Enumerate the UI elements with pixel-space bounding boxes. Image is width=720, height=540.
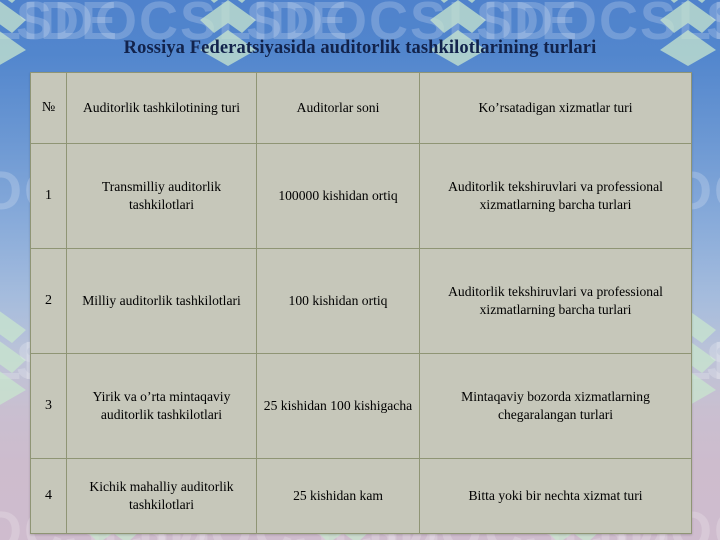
cell-type: Transmilliy auditorlik tashkilotlari bbox=[67, 144, 257, 249]
header-cell-number: № bbox=[31, 73, 67, 144]
cell-number: 3 bbox=[31, 354, 67, 459]
table-row: 3 Yirik va o’rta mintaqaviy auditorlik t… bbox=[31, 354, 692, 459]
header-cell-services: Ko’rsatadigan xizmatlar turi bbox=[420, 73, 692, 144]
watermark-text: SDOCSLIDE bbox=[706, 330, 720, 392]
cell-services: Auditorlik tekshiruvlari va professional… bbox=[420, 144, 692, 249]
green-chevron-logo-icon bbox=[0, 310, 30, 406]
cell-services: Mintaqaviy bozorda xizmatlarning chegara… bbox=[420, 354, 692, 459]
header-cell-type: Auditorlik tashkilotining turi bbox=[67, 73, 257, 144]
cell-type: Yirik va o’rta mintaqaviy auditorlik tas… bbox=[67, 354, 257, 459]
cell-count: 25 kishidan 100 kishigacha bbox=[257, 354, 420, 459]
cell-services: Auditorlik tekshiruvlari va professional… bbox=[420, 249, 692, 354]
cell-number: 1 bbox=[31, 144, 67, 249]
cell-type: Kichik mahalliy auditorlik tashkilotlari bbox=[67, 459, 257, 534]
audit-organizations-table: № Auditorlik tashkilotining turi Auditor… bbox=[30, 72, 692, 534]
cell-count: 25 kishidan kam bbox=[257, 459, 420, 534]
slide-canvas: SDOCSLIDESDOCSLIDESDOCSLIDESDOCSLIDESDOC… bbox=[0, 0, 720, 540]
cell-type: Milliy auditorlik tashkilotlari bbox=[67, 249, 257, 354]
cell-count: 100000 kishidan ortiq bbox=[257, 144, 420, 249]
cell-services: Bitta yoki bir nechta xizmat turi bbox=[420, 459, 692, 534]
table-row: 1 Transmilliy auditorlik tashkilotlari 1… bbox=[31, 144, 692, 249]
header-cell-count: Auditorlar soni bbox=[257, 73, 420, 144]
cell-number: 4 bbox=[31, 459, 67, 534]
cell-number: 2 bbox=[31, 249, 67, 354]
table-container: № Auditorlik tashkilotining turi Auditor… bbox=[30, 72, 691, 534]
table-row: 4 Kichik mahalliy auditorlik tashkilotla… bbox=[31, 459, 692, 534]
page-title: Rossiya Federatsiyasida auditorlik tashk… bbox=[0, 38, 720, 59]
table-header-row: № Auditorlik tashkilotining turi Auditor… bbox=[31, 73, 692, 144]
cell-count: 100 kishidan ortiq bbox=[257, 249, 420, 354]
table-row: 2 Milliy auditorlik tashkilotlari 100 ki… bbox=[31, 249, 692, 354]
